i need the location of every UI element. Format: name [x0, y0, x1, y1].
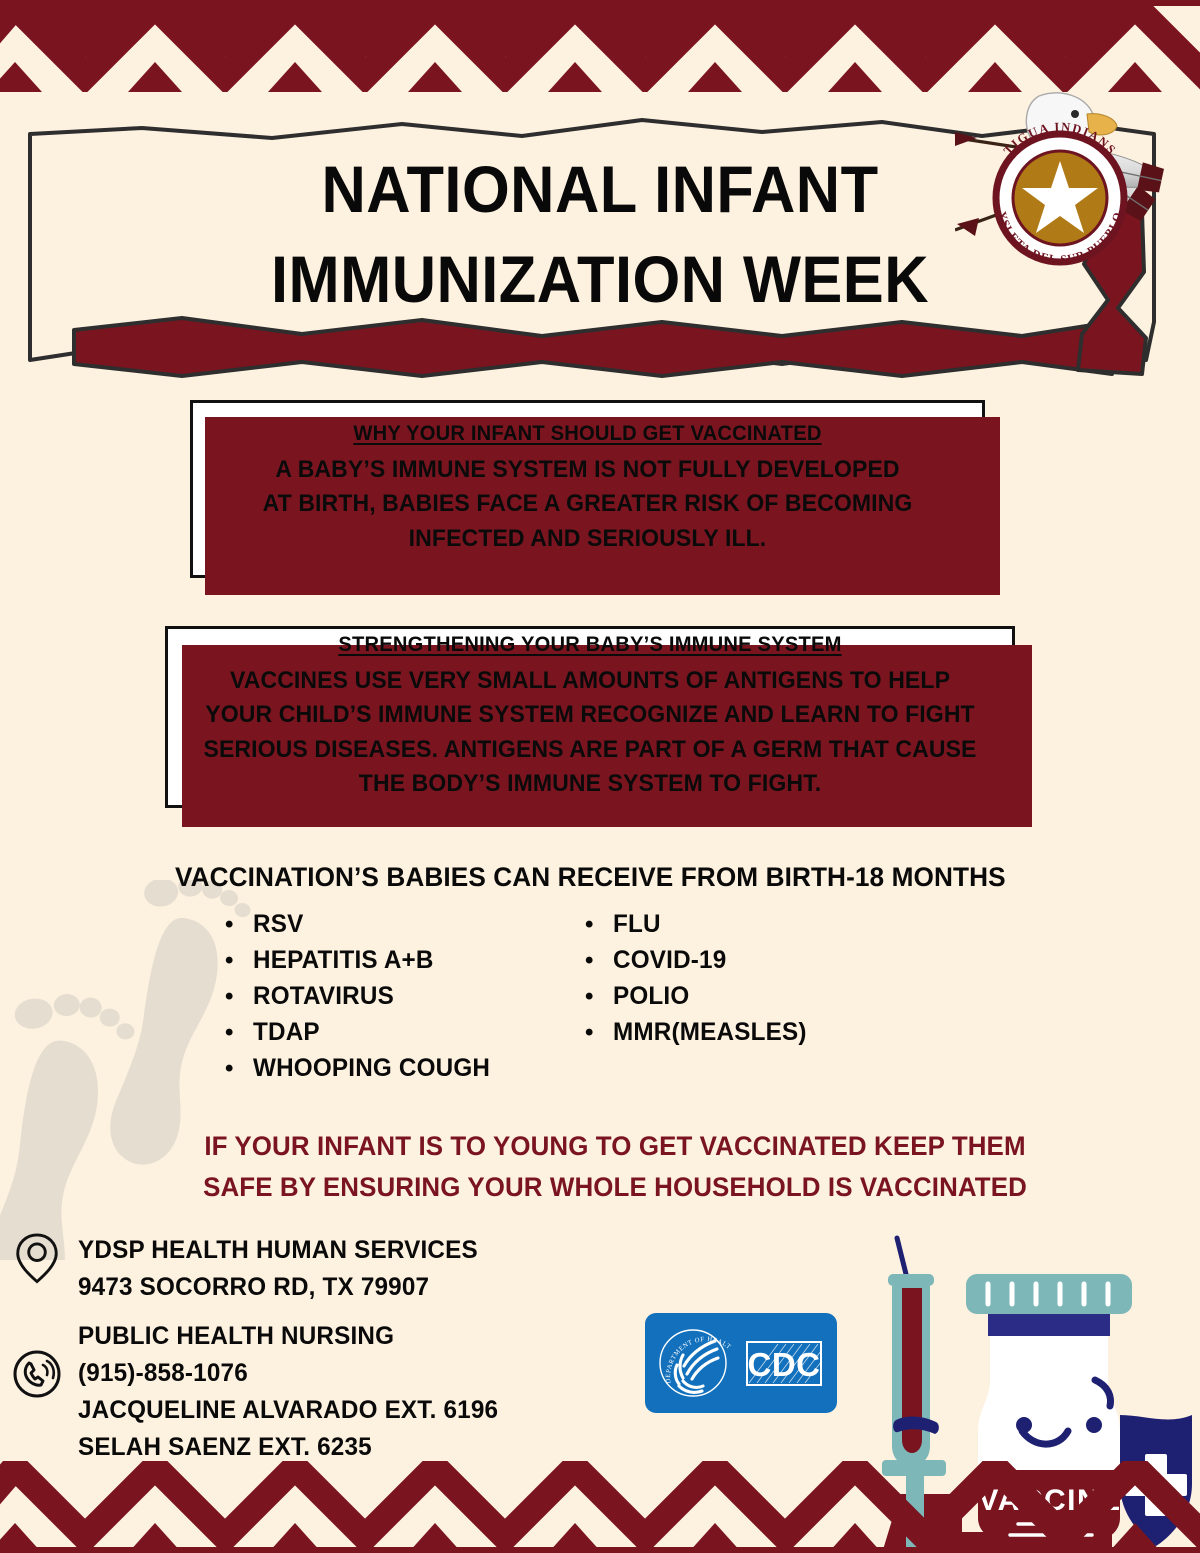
strengthening-line1: VACCINES USE VERY SMALL AMOUNTS OF ANTIG… [200, 664, 980, 698]
contact-phone: PUBLIC HEALTH NURSING (915)-858-1076 JAC… [12, 1318, 511, 1466]
list-item-label: TDAP [253, 1020, 320, 1045]
vaccine-bottle-label: VACCINE [978, 1484, 1121, 1517]
why-vaccinate-line3: INFECTED AND SERIOUSLY ILL. [226, 522, 949, 556]
bullet-icon: • [225, 949, 253, 973]
contact-address-line2: 9473 SOCORRO RD, TX 79907 [78, 1269, 478, 1306]
why-vaccinate-line2: AT BIRTH, BABIES FACE A GREATER RISK OF … [226, 487, 949, 521]
vaccination-list: • RSV • HEPATITIS A+B • ROTAVIRUS • TDAP… [225, 912, 1045, 1092]
strengthening-line4: THE BODY’S IMMUNE SYSTEM TO FIGHT. [200, 767, 980, 801]
why-vaccinate-box: WHY YOUR INFANT SHOULD GET VACCINATED A … [190, 400, 985, 578]
list-item: • FLU [585, 912, 945, 937]
list-item: • MMR(MEASLES) [585, 1020, 945, 1045]
vaccine-bottle-illustration: VACCINE [862, 1232, 1200, 1553]
contact-phone-line2: (915)-858-1076 [78, 1355, 498, 1392]
list-item: • HEPATITIS A+B [225, 948, 585, 973]
contact-phone-text: PUBLIC HEALTH NURSING (915)-858-1076 JAC… [78, 1318, 511, 1466]
bullet-icon: • [585, 985, 613, 1009]
list-item-label: POLIO [613, 984, 689, 1009]
list-item: • RSV [225, 912, 585, 937]
tigua-indians-seal-icon: TIGUA INDIANS YSLETA DEL SUR PUEBLO [955, 78, 1200, 283]
strengthening-line3: SERIOUS DISEASES. ANTIGENS ARE PART OF A… [200, 733, 980, 767]
contact-phone-line1: PUBLIC HEALTH NURSING [78, 1318, 498, 1355]
bullet-icon: • [585, 949, 613, 973]
bullet-icon: • [225, 1021, 253, 1045]
warning-line2: SAFE BY ENSURING YOUR WHOLE HOUSEHOLD IS… [178, 1167, 1052, 1208]
bullet-icon: • [225, 913, 253, 937]
bullet-icon: • [585, 1021, 613, 1045]
contact-address-line1: YDSP HEALTH HUMAN SERVICES [78, 1232, 478, 1269]
strengthening-line2: YOUR CHILD’S IMMUNE SYSTEM RECOGNIZE AND… [200, 698, 980, 732]
vaccination-column-left: • RSV • HEPATITIS A+B • ROTAVIRUS • TDAP… [225, 912, 585, 1092]
list-item-label: ROTAVIRUS [253, 984, 394, 1009]
list-item: • ROTAVIRUS [225, 984, 585, 1009]
cdc-label: CDC [748, 1346, 821, 1383]
list-item-label: HEPATITIS A+B [253, 948, 434, 973]
page-title-line2: IMMUNIZATION WEEK [209, 235, 990, 325]
warning-line1: IF YOUR INFANT IS TO YOUNG TO GET VACCIN… [178, 1126, 1052, 1167]
vaccination-column-right: • FLU • COVID-19 • POLIO • MMR(MEASLES) [585, 912, 945, 1092]
map-pin-icon [12, 1232, 62, 1284]
contact-phone-line3: JACQUELINE ALVARADO EXT. 6196 [78, 1392, 498, 1429]
why-vaccinate-line1: A BABY’S IMMUNE SYSTEM IS NOT FULLY DEVE… [226, 453, 949, 487]
page-title-line1: NATIONAL INFANT [209, 145, 990, 235]
list-item-label: RSV [253, 912, 303, 937]
list-item: • WHOOPING COUGH [225, 1056, 585, 1081]
why-vaccinate-heading: WHY YOUR INFANT SHOULD GET VACCINATED [226, 422, 949, 446]
list-item-label: COVID-19 [613, 948, 726, 973]
page-title: NATIONAL INFANT IMMUNIZATION WEEK [180, 145, 1020, 325]
list-item-label: WHOOPING COUGH [253, 1056, 490, 1081]
cdc-logo: DEPARTMENT OF HEALTH & HUMAN SERVICES US… [645, 1313, 837, 1413]
strengthening-heading: STRENGTHENING YOUR BABY’S IMMUNE SYSTEM [200, 633, 980, 657]
bullet-icon: • [225, 985, 253, 1009]
phone-call-icon [12, 1348, 62, 1400]
list-item-label: MMR(MEASLES) [613, 1020, 807, 1045]
list-item-label: FLU [613, 912, 661, 937]
vaccination-list-heading: VACCINATION’S BABIES CAN RECEIVE FROM BI… [175, 862, 1048, 893]
contact-address: YDSP HEALTH HUMAN SERVICES 9473 SOCORRO … [12, 1232, 490, 1306]
contact-phone-line4: SELAH SAENZ EXT. 6235 [78, 1429, 498, 1466]
bullet-icon: • [585, 913, 613, 937]
warning-message: IF YOUR INFANT IS TO YOUNG TO GET VACCIN… [160, 1126, 1070, 1207]
list-item: • POLIO [585, 984, 945, 1009]
list-item: • COVID-19 [585, 948, 945, 973]
contact-address-text: YDSP HEALTH HUMAN SERVICES 9473 SOCORRO … [78, 1232, 490, 1306]
strengthening-immune-box: STRENGTHENING YOUR BABY’S IMMUNE SYSTEM … [165, 626, 1015, 808]
list-item: • TDAP [225, 1020, 585, 1045]
bullet-icon: • [225, 1057, 253, 1081]
